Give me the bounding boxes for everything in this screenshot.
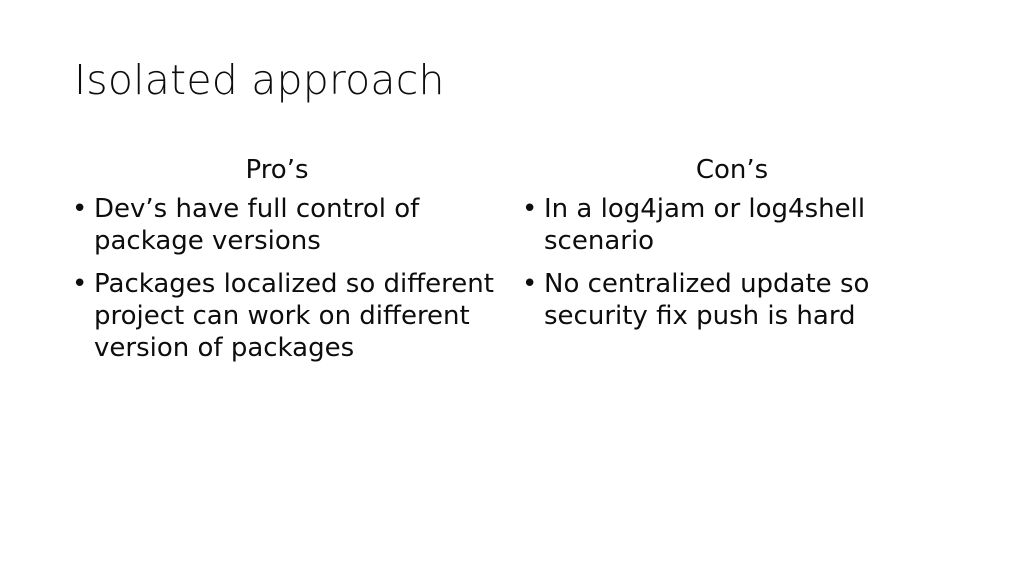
bullet-list-pros: • Dev’s have full control of package ver… [66,193,498,364]
bullet-list-cons: • In a log4jam or log4shell scenario • N… [516,193,954,332]
slide: Isolated approach Pro’s • Dev’s have ful… [0,0,1024,576]
list-item: • Packages localized so different projec… [66,268,498,364]
column-heading-pros: Pro’s [66,153,498,187]
column-cons: Con’s • In a log4jam or log4shell scenar… [516,153,954,332]
list-item-label: No centralized update so security fix pu… [544,268,954,332]
list-item: • Dev’s have full control of package ver… [66,193,498,257]
bullet-dot-icon: • [522,268,537,300]
list-item: • No centralized update so security fix … [516,268,954,332]
list-item: • In a log4jam or log4shell scenario [516,193,954,257]
bullet-dot-icon: • [72,193,87,225]
list-item-label: Packages localized so different project … [94,268,498,364]
bullet-dot-icon: • [72,268,87,300]
column-heading-cons: Con’s [516,153,954,187]
column-pros: Pro’s • Dev’s have full control of packa… [66,153,498,364]
page-title: Isolated approach [74,54,954,106]
list-item-label: Dev’s have full control of package versi… [94,193,498,257]
bullet-dot-icon: • [522,193,537,225]
list-item-label: In a log4jam or log4shell scenario [544,193,954,257]
